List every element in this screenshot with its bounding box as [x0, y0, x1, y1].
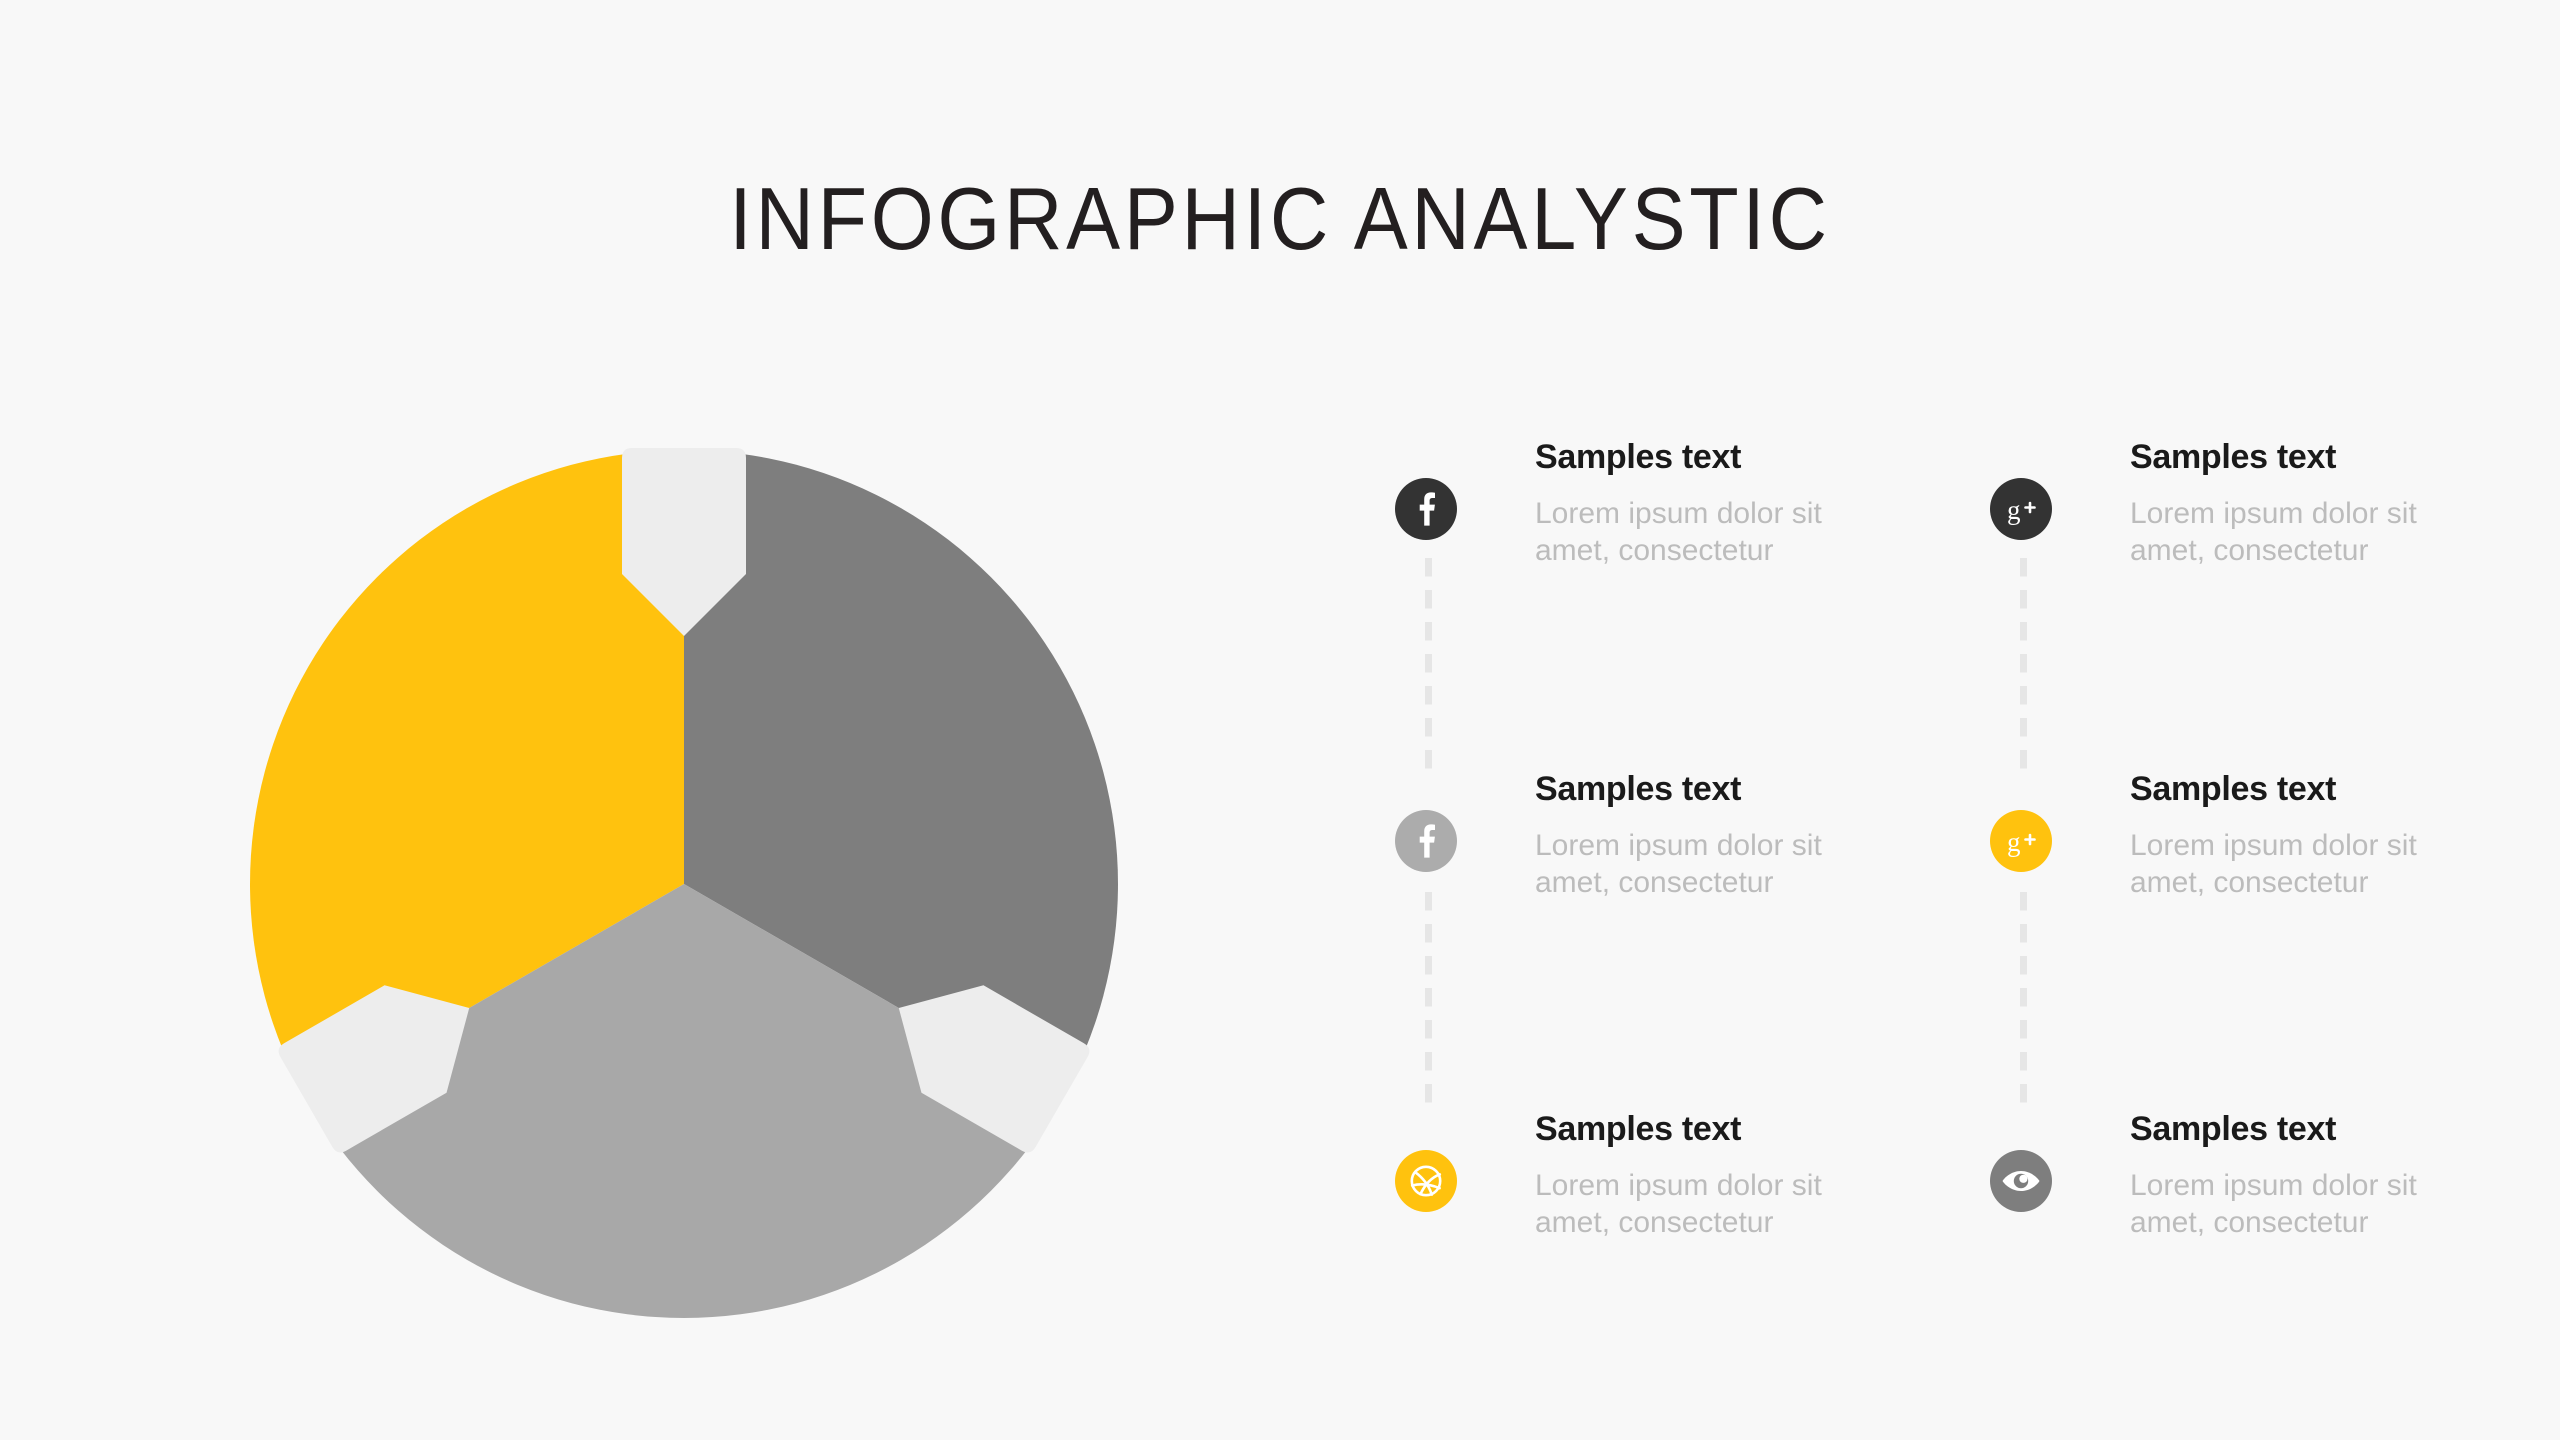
dribbble-icon[interactable] — [1395, 1150, 1457, 1212]
item-body: Lorem ipsum dolor sit amet, consectetur — [2130, 1168, 2490, 1241]
item-heading: Samples text — [1535, 440, 1895, 474]
pie-chart — [250, 450, 1118, 1318]
item-heading: Samples text — [1535, 1112, 1895, 1146]
facebook-icon[interactable] — [1395, 810, 1457, 872]
item-text: Samples text Lorem ipsum dolor sit amet,… — [2130, 772, 2490, 901]
item-heading: Samples text — [1535, 772, 1895, 806]
list-item[interactable]: Samples text Lorem ipsum dolor sit amet,… — [1990, 1112, 2530, 1292]
list-item[interactable]: g Samples text Lorem ipsum dolor sit ame… — [1990, 772, 2530, 952]
list-item[interactable]: Samples text Lorem ipsum dolor sit amet,… — [1395, 440, 1935, 620]
item-text: Samples text Lorem ipsum dolor sit amet,… — [1535, 772, 1895, 901]
facebook-icon[interactable] — [1395, 478, 1457, 540]
item-heading: Samples text — [2130, 1112, 2490, 1146]
list-item[interactable]: Samples text Lorem ipsum dolor sit amet,… — [1395, 1112, 1935, 1292]
list-item[interactable]: Samples text Lorem ipsum dolor sit amet,… — [1395, 772, 1935, 952]
dashed-connector — [2020, 892, 2027, 1104]
item-body: Lorem ipsum dolor sit amet, consectetur — [2130, 496, 2490, 569]
item-text: Samples text Lorem ipsum dolor sit amet,… — [2130, 440, 2490, 569]
dashed-connector — [1425, 892, 1432, 1104]
svg-text:g: g — [2007, 495, 2021, 525]
item-text: Samples text Lorem ipsum dolor sit amet,… — [1535, 440, 1895, 569]
dashed-connector — [2020, 558, 2027, 770]
item-body: Lorem ipsum dolor sit amet, consectetur — [2130, 828, 2490, 901]
item-heading: Samples text — [2130, 440, 2490, 474]
item-heading: Samples text — [2130, 772, 2490, 806]
item-text: Samples text Lorem ipsum dolor sit amet,… — [1535, 1112, 1895, 1241]
left-column: Samples text Lorem ipsum dolor sit amet,… — [1395, 440, 1935, 1300]
item-body: Lorem ipsum dolor sit amet, consectetur — [1535, 828, 1895, 901]
item-text: Samples text Lorem ipsum dolor sit amet,… — [2130, 1112, 2490, 1241]
google-plus-icon[interactable]: g — [1990, 478, 2052, 540]
items-panel: Samples text Lorem ipsum dolor sit amet,… — [1395, 440, 2495, 1300]
page-title: INFOGRAPHIC ANALYSTIC — [102, 168, 2457, 270]
list-item[interactable]: g Samples text Lorem ipsum dolor sit ame… — [1990, 440, 2530, 620]
right-column: g Samples text Lorem ipsum dolor sit ame… — [1990, 440, 2530, 1300]
dashed-connector — [1425, 558, 1432, 770]
item-body: Lorem ipsum dolor sit amet, consectetur — [1535, 1168, 1895, 1241]
svg-text:g: g — [2007, 827, 2021, 857]
item-body: Lorem ipsum dolor sit amet, consectetur — [1535, 496, 1895, 569]
google-plus-icon[interactable]: g — [1990, 810, 2052, 872]
eye-icon[interactable] — [1990, 1150, 2052, 1212]
